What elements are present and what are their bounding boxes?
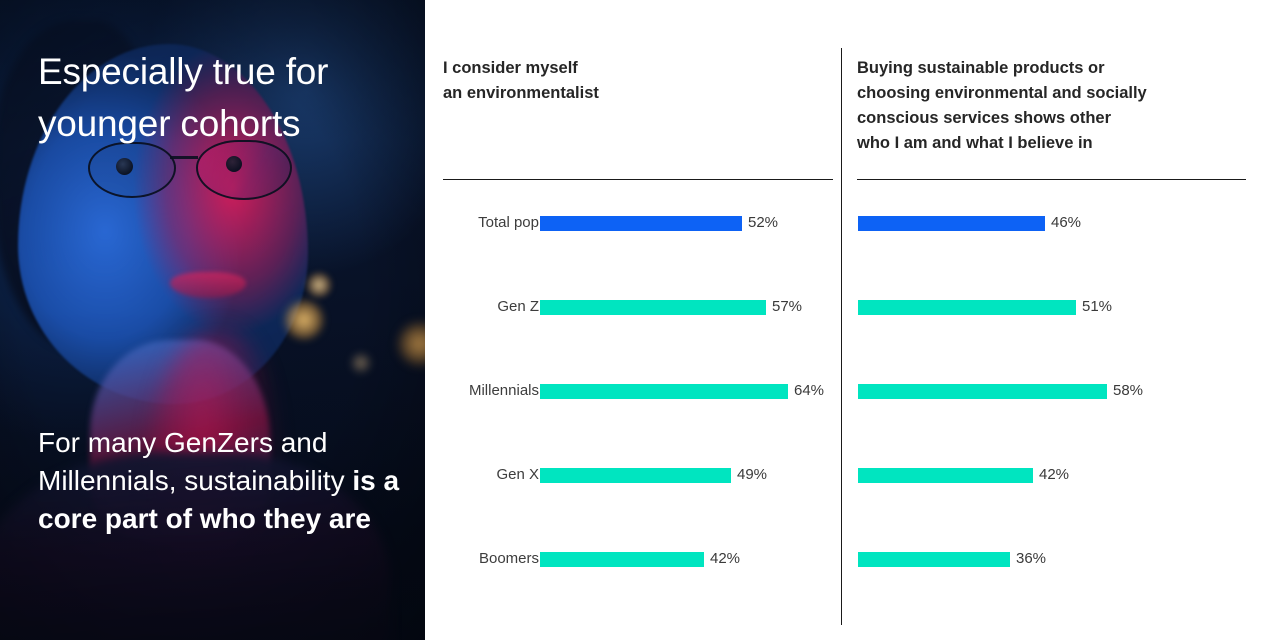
chart-title: I consider myself an environmentalist xyxy=(443,56,823,106)
bar-rows: 46% 51% 58% xyxy=(841,211,1280,631)
category-label: Total pop xyxy=(440,211,539,235)
title-divider xyxy=(443,179,833,180)
bar-value-label: 42% xyxy=(1039,463,1069,487)
bar-row[interactable]: 46% xyxy=(841,211,1280,295)
bar-value-label: 42% xyxy=(710,547,740,571)
bar-track: 49% xyxy=(540,463,841,487)
bar-rows: Total pop 52% Gen Z 57% xyxy=(425,211,841,631)
bar-fill xyxy=(858,300,1076,315)
bar-fill xyxy=(858,552,1010,567)
bar-track: 58% xyxy=(858,379,1280,403)
hero-body-regular: For many GenZers and Millennials, sustai… xyxy=(38,427,352,496)
hero-body-text: For many GenZers and Millennials, sustai… xyxy=(38,424,410,538)
bar-row[interactable]: Gen X 49% xyxy=(425,463,841,547)
bar-value-label: 57% xyxy=(772,295,802,319)
bar-track: 52% xyxy=(540,211,841,235)
bar-row[interactable]: Millennials 64% xyxy=(425,379,841,463)
bar-value-label: 52% xyxy=(748,211,778,235)
bar-fill xyxy=(540,384,788,399)
category-label: Millennials xyxy=(440,379,539,403)
bar-value-label: 51% xyxy=(1082,295,1112,319)
bar-row[interactable]: 42% xyxy=(841,463,1280,547)
bar-fill xyxy=(540,300,766,315)
chart-panel-environmentalist: I consider myself an environmentalist To… xyxy=(425,0,841,640)
bar-track: 36% xyxy=(858,547,1280,571)
hero-heading: Especially true for younger cohorts xyxy=(38,46,408,150)
bar-value-label: 46% xyxy=(1051,211,1081,235)
chart-panel-sustainable-products: Buying sustainable products or choosing … xyxy=(841,0,1280,640)
bar-fill xyxy=(540,552,704,567)
chart-title: Buying sustainable products or choosing … xyxy=(857,56,1257,156)
bar-value-label: 49% xyxy=(737,463,767,487)
bar-track: 64% xyxy=(540,379,841,403)
bar-value-label: 58% xyxy=(1113,379,1143,403)
bar-track: 57% xyxy=(540,295,841,319)
category-label: Boomers xyxy=(440,547,539,571)
category-label: Gen X xyxy=(440,463,539,487)
bar-row[interactable]: 58% xyxy=(841,379,1280,463)
bar-track: 46% xyxy=(858,211,1280,235)
hero-panel: Especially true for younger cohorts For … xyxy=(0,0,425,640)
slide-root: Especially true for younger cohorts For … xyxy=(0,0,1280,640)
bar-value-label: 64% xyxy=(794,379,824,403)
bar-fill xyxy=(858,384,1107,399)
bar-row[interactable]: Total pop 52% xyxy=(425,211,841,295)
bar-track: 42% xyxy=(858,463,1280,487)
bar-track: 51% xyxy=(858,295,1280,319)
bar-value-label: 36% xyxy=(1016,547,1046,571)
bar-fill xyxy=(540,216,742,231)
category-label: Gen Z xyxy=(440,295,539,319)
title-divider xyxy=(857,179,1246,180)
bar-row[interactable]: Gen Z 57% xyxy=(425,295,841,379)
bar-fill xyxy=(858,216,1045,231)
bar-row[interactable]: 51% xyxy=(841,295,1280,379)
bar-row[interactable]: Boomers 42% xyxy=(425,547,841,631)
bar-row[interactable]: 36% xyxy=(841,547,1280,631)
bar-fill xyxy=(540,468,731,483)
bar-fill xyxy=(858,468,1033,483)
bar-track: 42% xyxy=(540,547,841,571)
